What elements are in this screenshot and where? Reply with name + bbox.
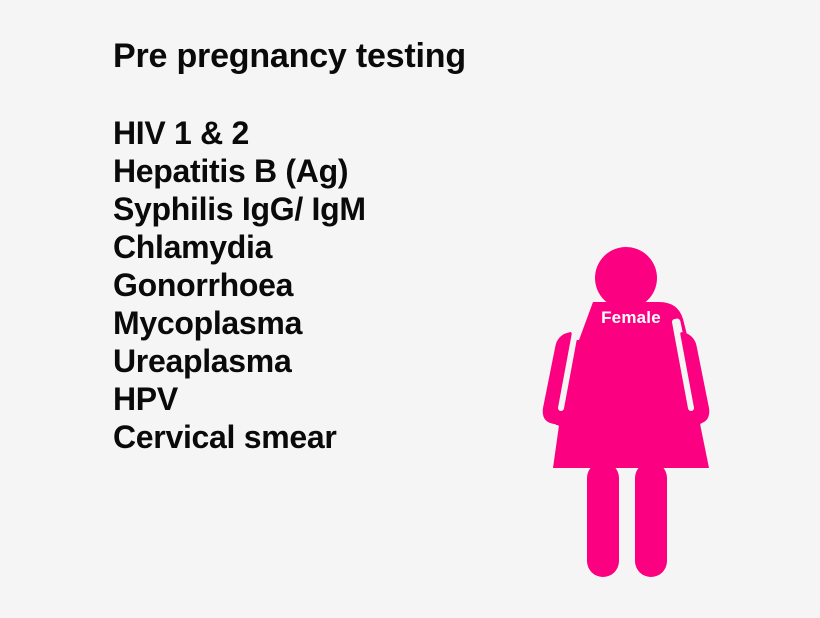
list-item: HPV — [113, 380, 543, 418]
list-item: Ureaplasma — [113, 342, 543, 380]
list-item: Mycoplasma — [113, 304, 543, 342]
list-item: HIV 1 & 2 — [113, 114, 543, 152]
list-item: Syphilis IgG/ IgM — [113, 190, 543, 228]
list-item: Gonorrhoea — [113, 266, 543, 304]
pre-pregnancy-testing-panel: Pre pregnancy testing HIV 1 & 2 Hepatiti… — [113, 36, 543, 456]
list-item: Hepatitis B (Ag) — [113, 152, 543, 190]
female-pictogram-icon — [531, 240, 731, 585]
list-item: Cervical smear — [113, 418, 543, 456]
test-list: HIV 1 & 2 Hepatitis B (Ag) Syphilis IgG/… — [113, 114, 543, 456]
list-item: Chlamydia — [113, 228, 543, 266]
female-figure: Female — [531, 240, 731, 585]
page-title: Pre pregnancy testing — [113, 36, 543, 76]
slide-canvas: Pre pregnancy testing HIV 1 & 2 Hepatiti… — [0, 0, 820, 618]
